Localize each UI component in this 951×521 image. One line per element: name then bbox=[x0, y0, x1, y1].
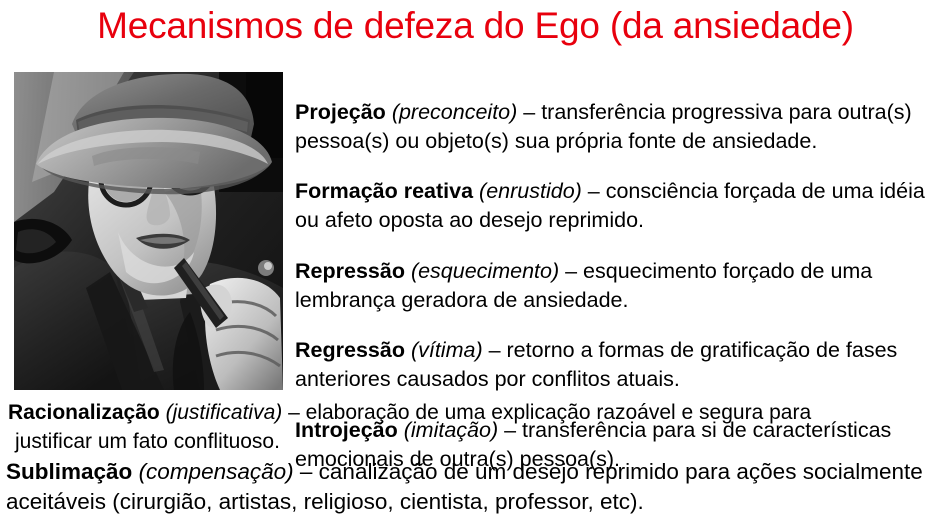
mechanism-regressao: Regressão (vítima) – retorno a formas de… bbox=[295, 336, 943, 394]
mechanism-dash: – bbox=[483, 338, 507, 362]
mechanism-alt: (vítima) bbox=[411, 338, 483, 362]
mechanism-definition-line2: justificar um fato conflituoso. bbox=[8, 427, 944, 456]
mechanism-term: Racionalização bbox=[8, 401, 160, 424]
mechanism-dash: – bbox=[517, 100, 541, 124]
mechanism-alt: (enrustido) bbox=[479, 179, 582, 203]
mechanism-term: Repressão bbox=[295, 259, 405, 283]
freud-photo bbox=[14, 72, 283, 390]
mechanism-formacao-reativa: Formação reativa (enrustido) – consciênc… bbox=[295, 177, 943, 235]
mechanism-term: Formação reativa bbox=[295, 179, 473, 203]
mechanism-term: Sublimação bbox=[6, 459, 132, 484]
mechanism-racionalizacao: Racionalização (justificativa) – elabora… bbox=[8, 398, 944, 456]
mechanism-dash: – bbox=[559, 259, 583, 283]
mechanism-dash: – bbox=[282, 401, 305, 424]
slide-canvas: Mecanismos de defeza do Ego (da ansiedad… bbox=[0, 0, 951, 521]
mechanism-projecao: Projeção (preconceito) – transferência p… bbox=[295, 98, 943, 156]
mechanism-alt: (preconceito) bbox=[392, 100, 517, 124]
mechanism-alt: (justificativa) bbox=[166, 401, 283, 424]
mechanism-term: Projeção bbox=[295, 100, 386, 124]
mechanism-dash: – bbox=[294, 459, 319, 484]
freud-photo-illustration bbox=[14, 72, 283, 390]
mechanism-sublimacao: Sublimação (compensação) – canalização d… bbox=[6, 457, 946, 517]
mechanism-dash: – bbox=[582, 179, 606, 203]
mechanism-alt: (compensação) bbox=[139, 459, 294, 484]
mechanism-term: Regressão bbox=[295, 338, 405, 362]
mechanism-repressao: Repressão (esquecimento) – esquecimento … bbox=[295, 257, 943, 315]
page-title: Mecanismos de defeza do Ego (da ansiedad… bbox=[0, 4, 951, 48]
mechanism-alt: (esquecimento) bbox=[411, 259, 559, 283]
mechanism-definition-line1: elaboração de uma explicação razoável e … bbox=[306, 401, 812, 424]
